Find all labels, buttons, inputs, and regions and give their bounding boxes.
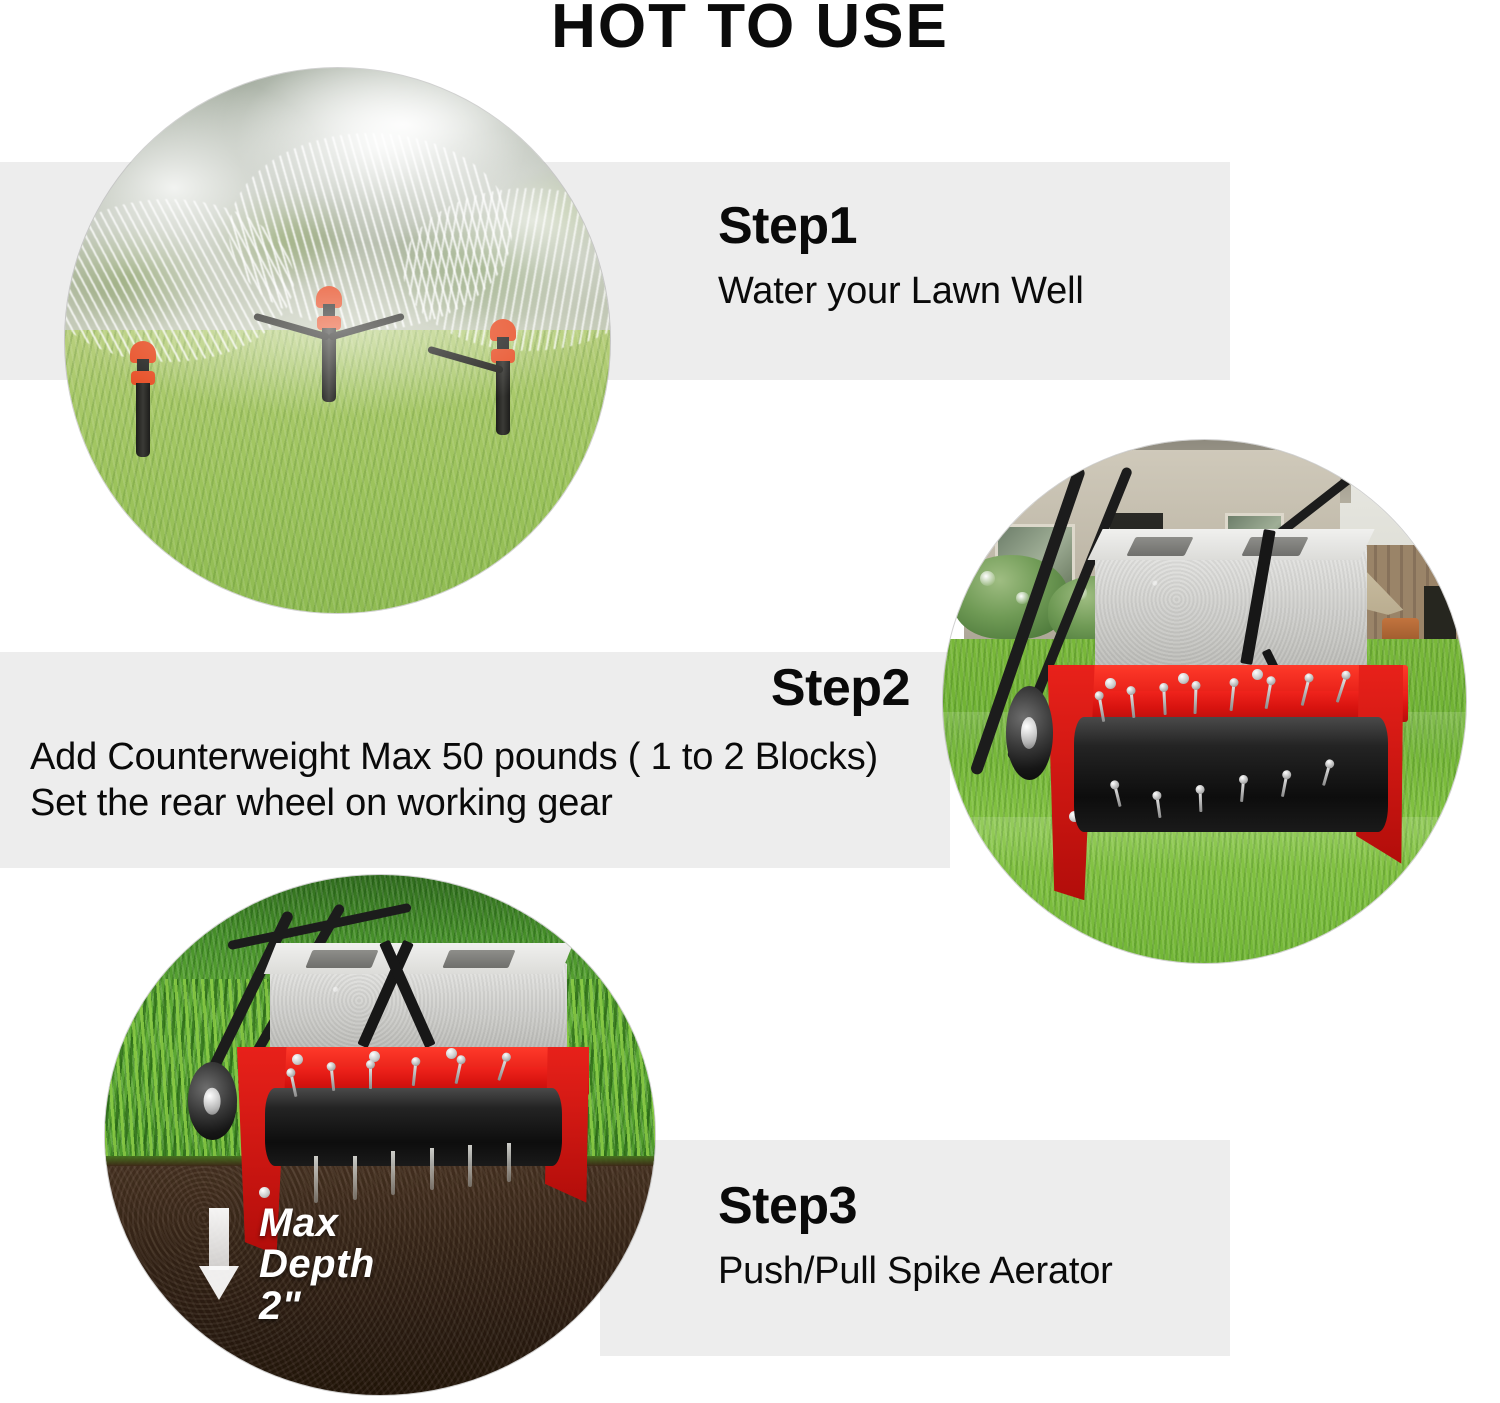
water-mist-overlay <box>65 68 610 613</box>
page-title: HOT TO USE <box>0 0 1500 59</box>
frame-bolt <box>259 1187 270 1198</box>
aerator-spike-drum <box>1074 717 1388 832</box>
max-depth-label: Max Depth 2" <box>259 1203 375 1328</box>
photo-step1-sprinklers <box>65 68 610 613</box>
aerator-rear-wheel <box>1006 686 1053 780</box>
step2-body: Add Counterweight Max 50 pounds ( 1 to 2… <box>30 734 910 827</box>
spike-hole-in-soil <box>468 1145 472 1187</box>
step1-heading: Step1 <box>718 200 1238 252</box>
scene-backyard <box>943 440 1466 963</box>
aerator-spike <box>369 1065 372 1089</box>
frame-bolt <box>446 1048 457 1059</box>
cinder-block-hole <box>442 950 515 968</box>
scene-soil-cutaway: Max Depth 2" <box>105 875 655 1395</box>
max-depth-line-1: Max <box>259 1203 375 1245</box>
spike-hole-in-soil <box>314 1156 318 1203</box>
step3-heading: Step3 <box>718 1180 1238 1232</box>
cinder-block-hole <box>1242 537 1309 556</box>
spike-hole-in-soil <box>391 1151 395 1195</box>
caption-step3: Step3 Push/Pull Spike Aerator <box>718 1180 1238 1294</box>
spike-hole-in-soil <box>353 1156 357 1200</box>
max-depth-line-3: 2" <box>259 1286 375 1328</box>
caption-step1: Step1 Water your Lawn Well <box>718 200 1238 314</box>
cinder-block-hole <box>305 950 378 968</box>
frame-bolt <box>1252 669 1263 680</box>
max-depth-line-2: Depth <box>259 1244 375 1286</box>
aerator-spike-drum <box>265 1088 562 1166</box>
spike-hole-in-soil <box>430 1148 434 1190</box>
step3-body: Push/Pull Spike Aerator <box>718 1248 1238 1294</box>
arrow-shaft <box>209 1208 229 1270</box>
step2-heading: Step2 <box>30 662 910 714</box>
spike-aerator-machine <box>105 875 655 1395</box>
frame-bolt <box>1105 678 1116 689</box>
aerator-rear-wheel <box>188 1062 238 1140</box>
infographic-page: HOT TO USE <box>0 0 1500 1403</box>
spike-hole-in-soil <box>507 1143 511 1182</box>
spike-aerator-machine <box>943 440 1466 963</box>
scene-sprinkler-lawn <box>65 68 610 613</box>
cinder-block-counterweight <box>1095 545 1367 681</box>
photo-step3-soil-cutaway: Max Depth 2" <box>105 875 655 1395</box>
arrow-head <box>199 1266 239 1300</box>
caption-step2: Step2 Add Counterweight Max 50 pounds ( … <box>30 662 910 827</box>
photo-step2-aerator-backyard <box>943 440 1466 963</box>
step1-body: Water your Lawn Well <box>718 268 1238 314</box>
cinder-block-hole <box>1127 537 1194 556</box>
